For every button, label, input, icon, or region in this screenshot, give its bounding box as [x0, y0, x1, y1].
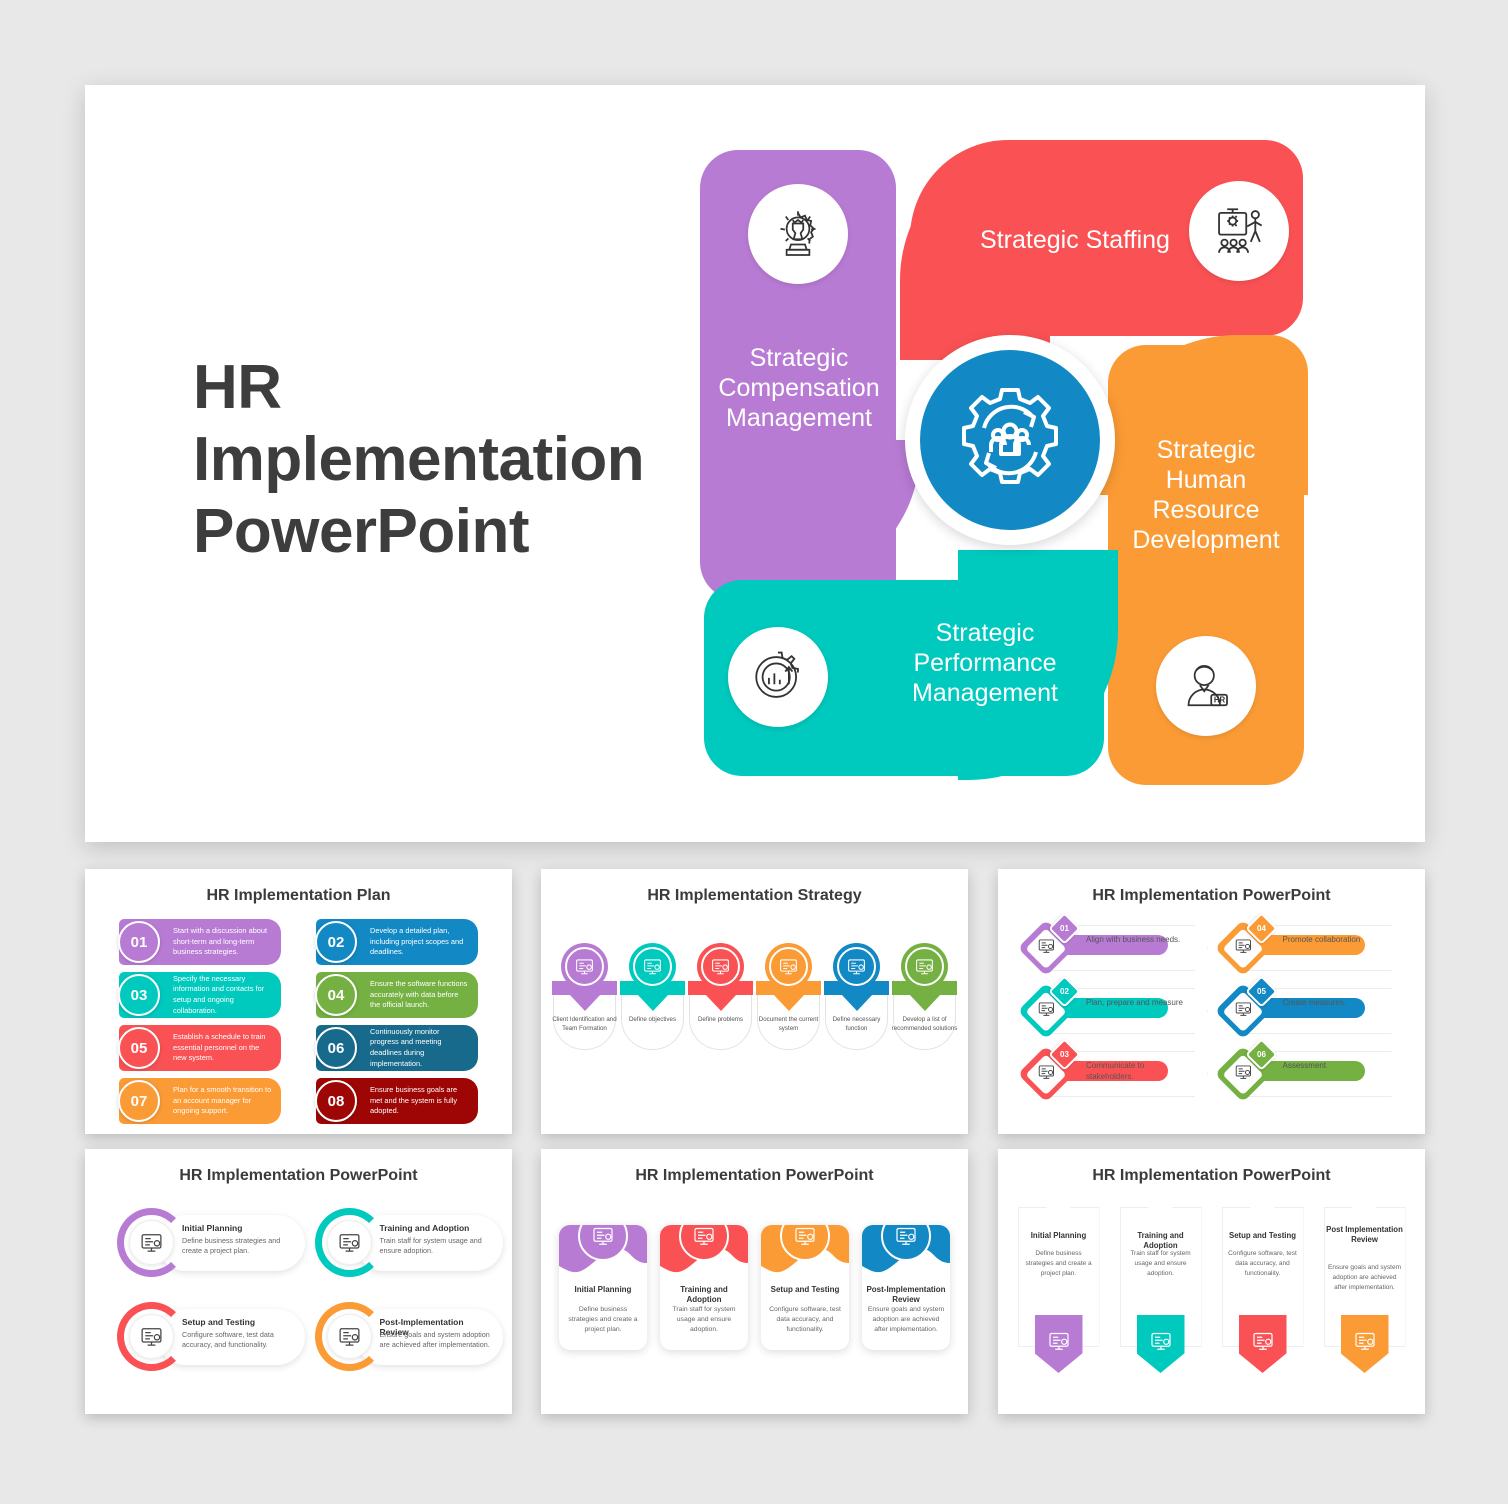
- document-arrow-icon: [629, 943, 676, 990]
- thumb-title: HR Implementation Plan: [85, 887, 512, 905]
- thumb-title: HR Implementation PowerPoint: [998, 887, 1425, 905]
- ring-row[interactable]: Training and AdoptionTrain staff for sys…: [309, 1207, 487, 1279]
- plan-pill[interactable]: 01Start with a discussion about short-te…: [119, 919, 281, 965]
- shield-card[interactable]: Post Implementation ReviewEnsure goals a…: [1324, 1207, 1406, 1392]
- thumbnail-hr-implementation-shields[interactable]: HR Implementation PowerPoint Initial Pla…: [998, 1149, 1425, 1414]
- plan-pill[interactable]: 04Ensure the software functions accurate…: [316, 972, 478, 1018]
- review-gear-icon: [1341, 1315, 1389, 1373]
- gear-chart-icon: [728, 627, 828, 727]
- hex-row[interactable]: 02Plan, prepare and measure: [1022, 984, 1205, 1038]
- plan-pill-number: 02: [315, 921, 357, 963]
- strategy-pin-label: Define necessary function: [821, 1015, 892, 1034]
- plan-pill-text: Ensure the software functions accurately…: [370, 979, 470, 1011]
- ring-text: Configure software, test data accuracy, …: [182, 1330, 294, 1351]
- hex-grid: 01Align with business needs.04Promote co…: [998, 905, 1425, 1101]
- wave-text: Ensure goals and system adoption are ach…: [867, 1305, 945, 1335]
- strategy-pin-label: Client Identification and Team Formation: [549, 1015, 620, 1034]
- strategy-pin-tip: [773, 994, 805, 1011]
- strategy-pin-tip: [637, 994, 669, 1011]
- plan-pill-text: Establish a schedule to train essential …: [173, 1032, 273, 1064]
- wave-heading: Post-Implementation Review: [866, 1285, 946, 1306]
- ring-heading: Training and Adoption: [380, 1223, 490, 1233]
- wave-heading: Training and Adoption: [664, 1285, 744, 1306]
- strategy-pin[interactable]: Define necessary function: [825, 943, 888, 1050]
- plan-board-icon: [129, 1220, 174, 1265]
- strategy-pin[interactable]: Develop a list of recommended solutions: [893, 943, 956, 1050]
- magnifier-question-icon: [697, 943, 744, 990]
- shield-card[interactable]: Initial PlanningDefine business strategi…: [1018, 1207, 1100, 1392]
- svg-text:HR: HR: [1214, 696, 1226, 705]
- strategy-pin-label: Define objectives: [617, 1015, 688, 1024]
- shield-heading: Post Implementation Review: [1326, 1225, 1404, 1246]
- wave-card[interactable]: Setup and TestingConfigure software, tes…: [761, 1225, 849, 1350]
- hex-row[interactable]: 01Align with business needs.: [1022, 921, 1205, 975]
- page-title: HR Implementation PowerPoint: [193, 352, 713, 568]
- strategy-pin-label: Document the current system: [753, 1015, 824, 1034]
- plan-board-icon: [1035, 1315, 1083, 1373]
- wave-text: Train staff for system usage and ensure …: [665, 1305, 743, 1335]
- hex-text: Assessment: [1283, 1060, 1391, 1071]
- wave-heading: Initial Planning: [563, 1285, 643, 1295]
- training-icon: [1137, 1315, 1185, 1373]
- network-nodes-icon: [833, 943, 880, 990]
- plan-pill-number: 07: [118, 1080, 160, 1122]
- blade-label-hr-development: Strategic Human Resource Development: [1112, 435, 1300, 555]
- thumbnail-hr-implementation-waves[interactable]: HR Implementation PowerPoint Initial Pla…: [541, 1149, 968, 1414]
- strategy-row: Client Identification and Team Formation…: [541, 943, 968, 1050]
- strategy-pin[interactable]: Document the current system: [757, 943, 820, 1050]
- briefcase-gear-icon: [765, 943, 812, 990]
- thumb-title: HR Implementation Strategy: [541, 887, 968, 905]
- plan-pill-number: 04: [315, 974, 357, 1016]
- plan-pill[interactable]: 03Specify the necessary information and …: [119, 972, 281, 1018]
- ring-text: Define business strategies and create a …: [182, 1236, 294, 1257]
- thumb-title: HR Implementation PowerPoint: [85, 1167, 512, 1185]
- shield-heading: Initial Planning: [1020, 1231, 1098, 1241]
- wave-heading: Setup and Testing: [765, 1285, 845, 1295]
- ring-heading: Setup and Testing: [182, 1317, 292, 1327]
- blade-label-performance: Strategic Performance Management: [855, 618, 1115, 708]
- hex-text: Communicate to stakeholders.: [1086, 1060, 1194, 1082]
- hex-text: Plan, prepare and measure: [1086, 997, 1194, 1008]
- plan-pill-number: 05: [118, 1027, 160, 1069]
- hr-person-badge-icon: HR: [1156, 636, 1256, 736]
- wave-card[interactable]: Post-Implementation ReviewEnsure goals a…: [862, 1225, 950, 1350]
- thumbnail-hr-implementation-strategy[interactable]: HR Implementation Strategy Client Identi…: [541, 869, 968, 1134]
- plan-pill[interactable]: 06Continuously monitor progress and meet…: [316, 1025, 478, 1071]
- strategy-pin[interactable]: Client Identification and Team Formation: [553, 943, 616, 1050]
- plan-pill-number: 01: [118, 921, 160, 963]
- wave-card[interactable]: Training and AdoptionTrain staff for sys…: [660, 1225, 748, 1350]
- pinwheel-diagram: Strategic Compensation Management Strat: [700, 140, 1360, 785]
- person-search-icon: [561, 943, 608, 990]
- hex-text: Create measures.: [1283, 997, 1391, 1008]
- thumb-title: HR Implementation PowerPoint: [998, 1167, 1425, 1185]
- people-gear-cycle-icon: [920, 350, 1100, 530]
- thumbnail-hr-implementation-plan[interactable]: HR Implementation Plan 01Start with a di…: [85, 869, 512, 1134]
- hex-text: Promote collaboration: [1283, 934, 1391, 945]
- hex-row[interactable]: 03Communicate to stakeholders.: [1022, 1047, 1205, 1101]
- thumb-title: HR Implementation PowerPoint: [541, 1167, 968, 1185]
- setup-testing-icon: [1239, 1315, 1287, 1373]
- plan-pill[interactable]: 07Plan for a smooth transition to an acc…: [119, 1078, 281, 1124]
- ring-heading: Initial Planning: [182, 1223, 292, 1233]
- wave-text: Define business strategies and create a …: [564, 1305, 642, 1335]
- strategy-pin[interactable]: Define objectives: [621, 943, 684, 1050]
- ring-grid: Initial PlanningDefine business strategi…: [85, 1185, 512, 1373]
- hex-row[interactable]: 06Assessment: [1219, 1047, 1402, 1101]
- strategy-pin-tip: [569, 994, 601, 1011]
- ring-row[interactable]: Initial PlanningDefine business strategi…: [111, 1207, 289, 1279]
- shield-text: Ensure goals and system adoption are ach…: [1327, 1263, 1403, 1292]
- strategy-pin-tip: [909, 994, 941, 1011]
- plan-pill-number: 03: [118, 974, 160, 1016]
- thumbnail-hr-implementation-rings[interactable]: HR Implementation PowerPoint Initial Pla…: [85, 1149, 512, 1414]
- review-gear-icon: [327, 1314, 372, 1359]
- chess-gear-icon: [748, 184, 848, 284]
- strategy-pin-tip: [705, 994, 737, 1011]
- strategy-pin-tip: [841, 994, 873, 1011]
- training-icon: [327, 1220, 372, 1265]
- plan-pill-text: Develop a detailed plan, including proje…: [370, 926, 470, 958]
- ring-row[interactable]: Post-Implementation ReviewEnsure goals a…: [309, 1301, 487, 1373]
- plan-grid: 01Start with a discussion about short-te…: [85, 905, 512, 1124]
- shield-heading: Setup and Testing: [1224, 1231, 1302, 1241]
- wave-text: Configure software, test data accuracy, …: [766, 1305, 844, 1335]
- blade-label-staffing: Strategic Staffing: [930, 225, 1220, 255]
- strategy-pin-label: Define problems: [685, 1015, 756, 1024]
- plan-pill[interactable]: 08Ensure business goals are met and the …: [316, 1078, 478, 1124]
- thumbnail-hr-implementation-hexagons[interactable]: HR Implementation PowerPoint 01Align wit…: [998, 869, 1425, 1134]
- slide-preview-page: HR Implementation PowerPoint Strategic C…: [0, 0, 1508, 1504]
- plan-pill[interactable]: 02Develop a detailed plan, including pro…: [316, 919, 478, 965]
- plan-pill-text: Ensure business goals are met and the sy…: [370, 1085, 470, 1117]
- plan-pill-number: 06: [315, 1027, 357, 1069]
- plan-pill-text: Specify the necessary information and co…: [173, 974, 273, 1016]
- strategy-pin-label: Develop a list of recommended solutions: [889, 1015, 960, 1034]
- plan-pill-text: Start with a discussion about short-term…: [173, 926, 273, 958]
- shield-text: Train staff for system usage and ensure …: [1123, 1249, 1199, 1278]
- people-group-icon: [901, 943, 948, 990]
- hex-text: Align with business needs.: [1086, 934, 1194, 945]
- shield-text: Define business strategies and create a …: [1021, 1249, 1097, 1278]
- wave-row: Initial PlanningDefine business strategi…: [541, 1225, 968, 1350]
- ring-text: Train staff for system usage and ensure …: [380, 1236, 492, 1257]
- plan-pill-number: 08: [315, 1080, 357, 1122]
- presentation-training-icon: [1189, 181, 1289, 281]
- wave-card[interactable]: Initial PlanningDefine business strategi…: [559, 1225, 647, 1350]
- ring-text: Ensure goals and system adoption are ach…: [380, 1330, 492, 1351]
- setup-testing-icon: [129, 1314, 174, 1359]
- shield-row: Initial PlanningDefine business strategi…: [998, 1207, 1425, 1392]
- plan-pill-text: Plan for a smooth transition to an accou…: [173, 1085, 273, 1117]
- shield-card[interactable]: Training and AdoptionTrain staff for sys…: [1120, 1207, 1202, 1392]
- shield-card[interactable]: Setup and TestingConfigure software, tes…: [1222, 1207, 1304, 1392]
- strategy-pin[interactable]: Define problems: [689, 943, 752, 1050]
- shield-text: Configure software, test data accuracy, …: [1225, 1249, 1301, 1278]
- hex-row[interactable]: 05Create measures.: [1219, 984, 1402, 1038]
- plan-pill[interactable]: 05Establish a schedule to train essentia…: [119, 1025, 281, 1071]
- hex-row[interactable]: 04Promote collaboration: [1219, 921, 1402, 975]
- plan-pill-text: Continuously monitor progress and meetin…: [370, 1027, 470, 1069]
- hero-slide[interactable]: HR Implementation PowerPoint Strategic C…: [85, 85, 1425, 842]
- ring-row[interactable]: Setup and TestingConfigure software, tes…: [111, 1301, 289, 1373]
- blade-label-compensation: Strategic Compensation Management: [706, 343, 892, 433]
